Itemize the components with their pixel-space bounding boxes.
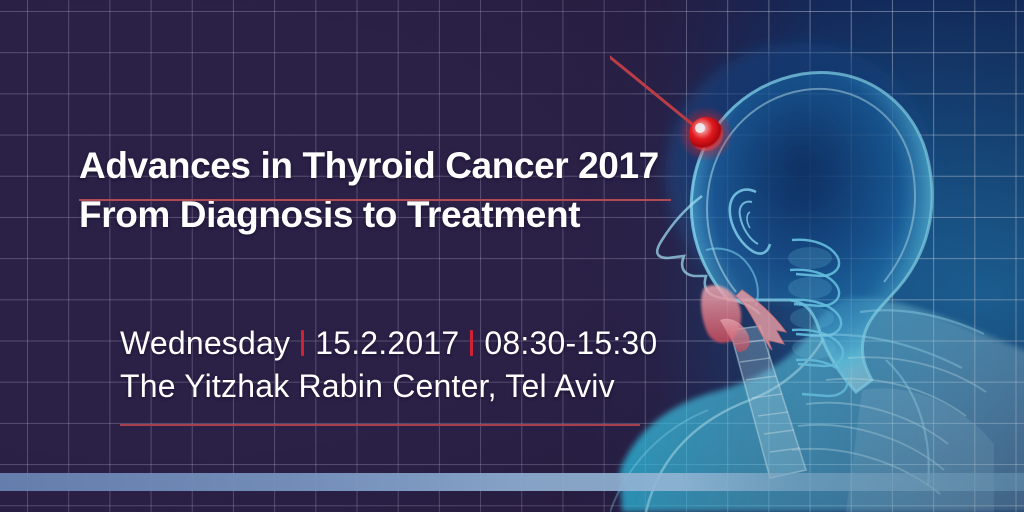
- headline-divider-rule: [79, 199, 671, 201]
- event-venue: The Yitzhak Rabin Center, Tel Aviv: [120, 364, 740, 408]
- event-info-block: Wednesday 15.2.2017 08:30-15:30 The Yitz…: [120, 322, 740, 408]
- headline-block: Advances in Thyroid Cancer 2017 From Dia…: [79, 141, 719, 239]
- separator-mark-1: [301, 330, 304, 356]
- event-time: 08:30-15:30: [484, 322, 657, 364]
- decorative-blue-bar: [0, 473, 1024, 491]
- event-dateline: Wednesday 15.2.2017 08:30-15:30: [120, 322, 740, 364]
- headline-line-2: From Diagnosis to Treatment: [79, 190, 719, 239]
- separator-mark-2: [470, 330, 473, 356]
- event-date: 15.2.2017: [315, 322, 459, 364]
- headline-line-1: Advances in Thyroid Cancer 2017: [79, 141, 719, 190]
- event-day: Wednesday: [120, 322, 290, 364]
- background-vignette: [0, 0, 1024, 512]
- venue-underline-rule: [120, 424, 640, 426]
- conference-banner: Advances in Thyroid Cancer 2017 From Dia…: [0, 0, 1024, 512]
